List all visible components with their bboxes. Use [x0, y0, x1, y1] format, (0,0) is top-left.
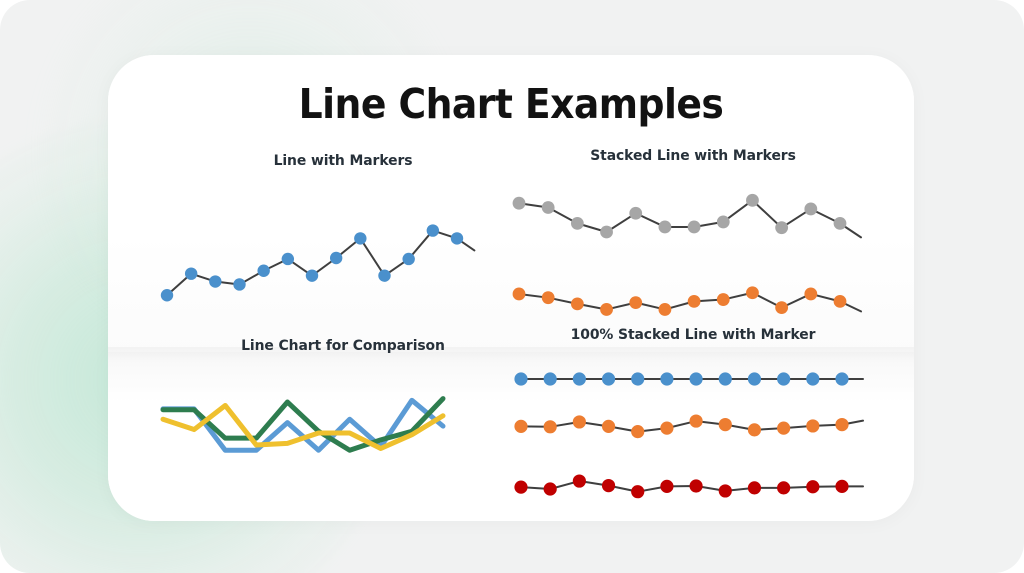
chart-stacked-line-with-markers: [503, 190, 888, 325]
content-card: Line Chart Examples Line with Markers St…: [108, 55, 914, 521]
page-title: Line Chart Examples: [140, 80, 882, 128]
outer-frame: Line Chart Examples Line with Markers St…: [0, 0, 1024, 573]
chart-line-with-markers: [153, 195, 503, 325]
card-inner: Line Chart Examples Line with Markers St…: [108, 55, 914, 521]
chart-line-chart-for-comparison: [153, 380, 503, 495]
panel-title-line-chart-for-comparison: Line Chart for Comparison: [161, 338, 526, 354]
chart-100-stacked-line-with-marker: [503, 367, 888, 502]
panel-title-stacked-line-with-markers: Stacked Line with Markers: [511, 148, 876, 164]
panel-title-line-with-markers: Line with Markers: [170, 153, 516, 169]
page-root: Line Chart Examples Line with Markers St…: [0, 0, 1024, 573]
panel-title-100-stacked-line-with-marker: 100% Stacked Line with Marker: [511, 327, 876, 343]
